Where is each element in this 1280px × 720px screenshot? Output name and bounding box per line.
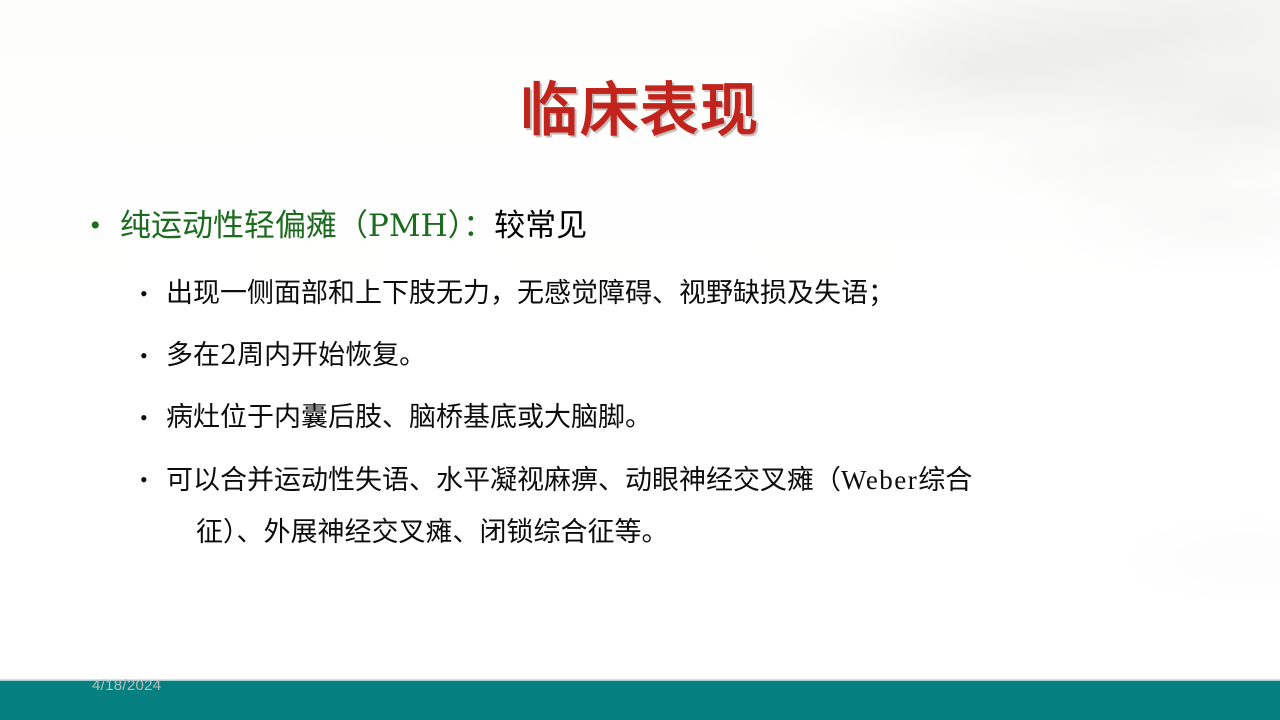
list-item-text: 出现一侧面部和上下肢无力，无感觉障碍、视野缺损及失语； — [166, 274, 1208, 314]
bullet-marker-icon: • — [140, 460, 166, 500]
list-item-text: 可以合并运动性失语、水平凝视麻痹、动眼神经交叉瘫（Weber综合征）、外展神经交… — [166, 460, 1206, 553]
presentation-slide: 临床表现 • 纯运动性轻偏瘫（PMH）：较常见 • 出现一侧面部和上下肢无力，无… — [0, 0, 1280, 720]
list-item-text: 病灶位于内囊后肢、脑桥基底或大脑脚。 — [166, 398, 1208, 438]
list-item: • 多在2周内开始恢复。 — [140, 336, 1208, 376]
bullet-marker-icon: • — [140, 274, 166, 314]
list-item-text: 多在2周内开始恢复。 — [166, 336, 1208, 376]
bullet-marker-icon: • — [140, 398, 166, 438]
slide-body: • 纯运动性轻偏瘫（PMH）：较常见 • 出现一侧面部和上下肢无力，无感觉障碍、… — [88, 204, 1208, 575]
bullet-marker-icon: • — [140, 336, 166, 376]
list-item: • 可以合并运动性失语、水平凝视麻痹、动眼神经交叉瘫（Weber综合征）、外展神… — [140, 460, 1208, 553]
footer-date: 4/18/2024 — [92, 677, 161, 694]
bullet-level1-text: 纯运动性轻偏瘫（PMH）：较常见 — [120, 204, 1208, 248]
page-title: 临床表现 — [520, 79, 760, 143]
list-item: • 出现一侧面部和上下肢无力，无感觉障碍、视野缺损及失语； — [140, 274, 1208, 314]
list-item-text-latin: Weber — [841, 465, 918, 495]
list-item-text-part-a: 可以合并运动性失语、水平凝视麻痹、动眼神经交叉瘫（ — [166, 465, 841, 496]
list-item-text-line2: 征）、外展神经交叉瘫、闭锁综合征等。 — [166, 513, 1206, 553]
list-item: • 病灶位于内囊后肢、脑桥基底或大脑脚。 — [140, 398, 1208, 438]
bullet-marker-icon: • — [88, 204, 120, 248]
bullet-level1-heading-black: 较常见 — [494, 208, 587, 244]
list-item-text-part-b: 综合 — [918, 465, 972, 496]
bullet-level1: • 纯运动性轻偏瘫（PMH）：较常见 — [88, 204, 1208, 248]
footer-bar — [0, 681, 1280, 720]
title-area: 临床表现 — [0, 40, 1280, 182]
bullet-level1-heading-green: 纯运动性轻偏瘫（PMH）： — [120, 208, 494, 244]
sub-bullet-list: • 出现一侧面部和上下肢无力，无感觉障碍、视野缺损及失语； • 多在2周内开始恢… — [88, 274, 1208, 553]
